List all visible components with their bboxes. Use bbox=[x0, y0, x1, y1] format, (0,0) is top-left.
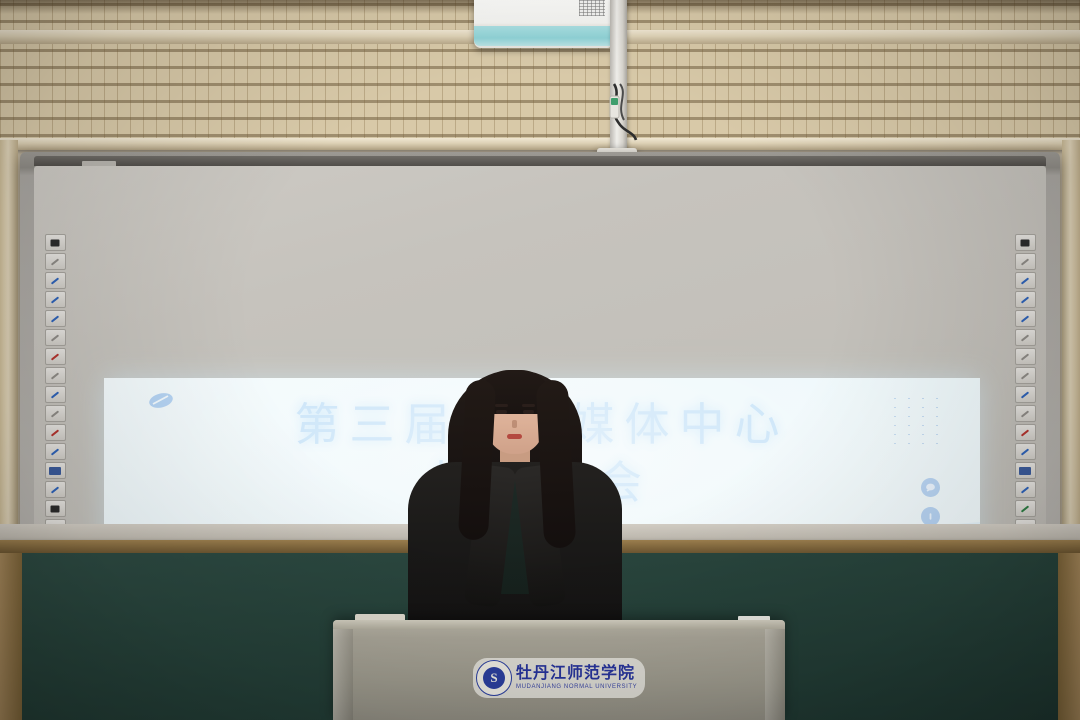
university-logo: S 牡丹江师范学院 MUDANJIANG NORMAL UNIVERSITY bbox=[473, 658, 645, 698]
presenter-mouth bbox=[507, 434, 522, 439]
classroom-scene: 第三届学生媒体中心 换届大会 09 29 bbox=[0, 0, 1080, 720]
presenter-nose bbox=[512, 420, 517, 428]
acoustic-wall-panel-main bbox=[0, 44, 1080, 144]
tool-shapes-icon[interactable] bbox=[45, 443, 66, 460]
wall-column-right bbox=[1062, 140, 1080, 570]
university-name-cn: 牡丹江师范学院 bbox=[516, 666, 637, 682]
tool-eraser-icon[interactable] bbox=[45, 424, 66, 441]
tool-grid-icon[interactable] bbox=[45, 500, 66, 517]
tool-pen-thin-icon[interactable] bbox=[1015, 329, 1036, 346]
tool-user-icon[interactable] bbox=[1015, 481, 1036, 498]
presenter-eye-left bbox=[496, 410, 507, 414]
tool-select-icon[interactable] bbox=[45, 272, 66, 289]
air-conditioner-grille-icon bbox=[579, 0, 605, 16]
tool-pen-dark-icon[interactable] bbox=[45, 367, 66, 384]
tool-pen-slant-icon[interactable] bbox=[1015, 367, 1036, 384]
tool-grid-icon[interactable] bbox=[1015, 500, 1036, 517]
tool-hand-icon[interactable] bbox=[45, 291, 66, 308]
lectern-side-left bbox=[333, 629, 353, 720]
tool-shape-icon[interactable] bbox=[1015, 310, 1036, 327]
tool-eraser-icon[interactable] bbox=[1015, 424, 1036, 441]
projector-cables bbox=[600, 82, 644, 142]
wall-trim-rail-lower bbox=[0, 138, 1080, 150]
tool-pen-red-icon[interactable] bbox=[45, 348, 66, 365]
whiteboard-top-bar bbox=[34, 156, 1046, 166]
university-seal-icon: S bbox=[476, 660, 512, 696]
whiteboard-toolbar-left[interactable] bbox=[44, 234, 66, 574]
tool-pen-thin-icon[interactable] bbox=[45, 329, 66, 346]
tool-highlighter-icon[interactable] bbox=[45, 386, 66, 403]
tool-screen-icon[interactable] bbox=[45, 234, 66, 251]
tool-highlighter-icon[interactable] bbox=[1015, 386, 1036, 403]
tool-shapes-icon[interactable] bbox=[1015, 443, 1036, 460]
university-name-en: MUDANJIANG NORMAL UNIVERSITY bbox=[516, 684, 637, 690]
air-conditioner-unit bbox=[474, 0, 614, 48]
tool-pointer-icon[interactable] bbox=[1015, 253, 1036, 270]
tool-pointer-icon[interactable] bbox=[45, 253, 66, 270]
university-name-block: 牡丹江师范学院 MUDANJIANG NORMAL UNIVERSITY bbox=[516, 666, 637, 690]
air-conditioner-vent bbox=[474, 26, 614, 46]
presenter-figure bbox=[400, 362, 630, 652]
tool-desktop-icon[interactable] bbox=[45, 462, 66, 479]
tool-user-icon[interactable] bbox=[45, 481, 66, 498]
tool-select-icon[interactable] bbox=[1015, 272, 1036, 289]
tool-screen-icon[interactable] bbox=[1015, 234, 1036, 251]
tool-marker-icon[interactable] bbox=[1015, 405, 1036, 422]
lectern-side-right bbox=[765, 629, 785, 720]
presenter-eye-right bbox=[523, 410, 534, 414]
presenter-brow-left bbox=[495, 404, 508, 407]
presenter-brow-right bbox=[522, 404, 535, 407]
tool-desktop-icon[interactable] bbox=[1015, 462, 1036, 479]
lectern: S 牡丹江师范学院 MUDANJIANG NORMAL UNIVERSITY bbox=[333, 620, 785, 720]
wall-column-left bbox=[0, 140, 18, 570]
chalkboard-frame-left bbox=[0, 553, 22, 720]
tool-hand-icon[interactable] bbox=[1015, 291, 1036, 308]
lectern-top-edge bbox=[333, 620, 785, 629]
chalkboard-frame-right bbox=[1058, 553, 1080, 720]
tool-marker-icon[interactable] bbox=[45, 405, 66, 422]
university-seal-letter: S bbox=[483, 667, 505, 689]
tool-pen-dark-icon[interactable] bbox=[1015, 348, 1036, 365]
whiteboard-toolbar-right[interactable] bbox=[1014, 234, 1036, 574]
wechat-icon bbox=[921, 478, 940, 497]
tool-shape-icon[interactable] bbox=[45, 310, 66, 327]
